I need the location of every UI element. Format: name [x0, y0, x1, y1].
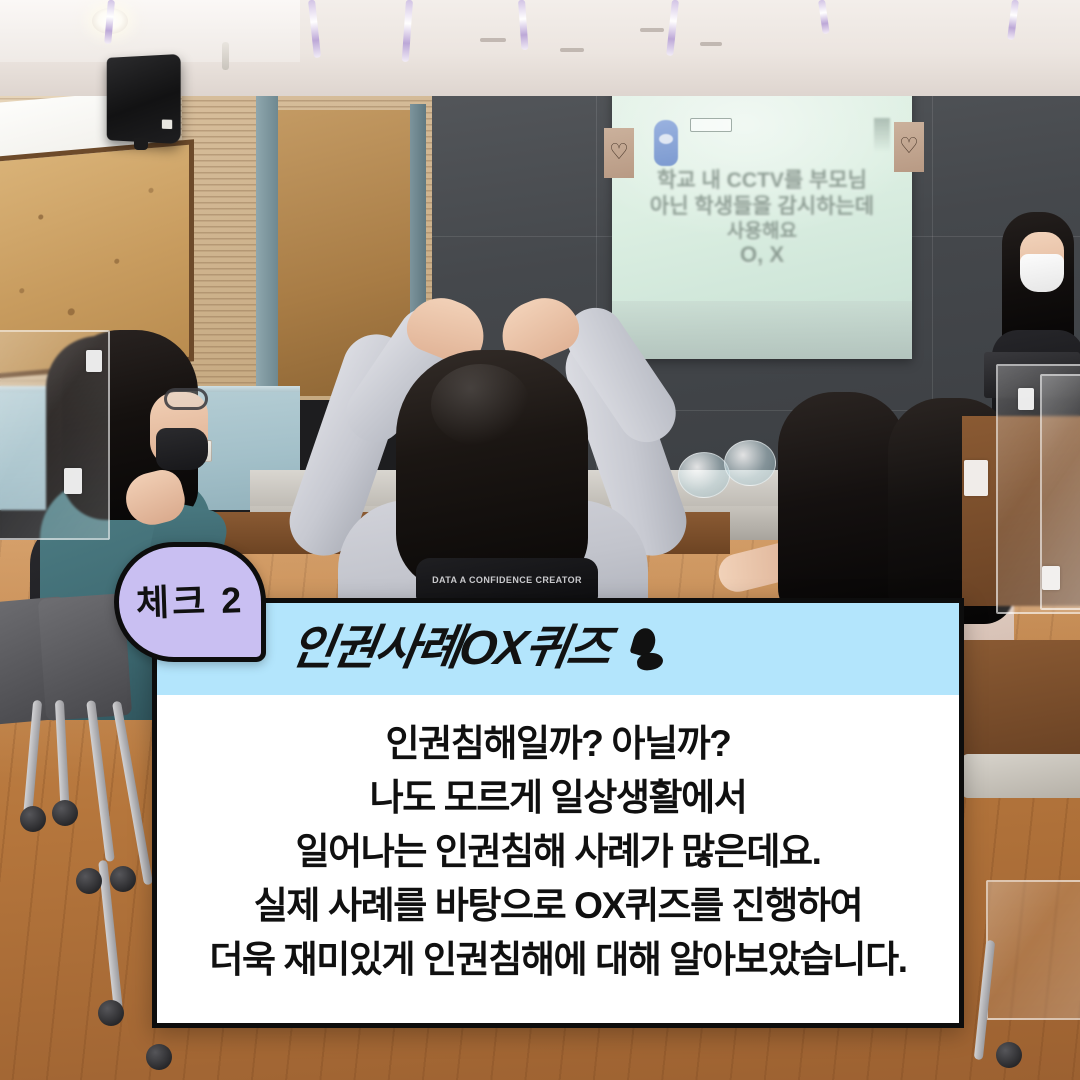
comma-sparkle-icon — [621, 626, 667, 672]
chair-caster — [20, 806, 46, 832]
balloon-decoration — [678, 452, 730, 498]
divider-hinge — [86, 350, 102, 372]
slide-text-line-4: O, X — [612, 242, 912, 268]
ceiling-vent — [640, 28, 664, 32]
heart-decoration-left: ♡ — [604, 128, 634, 178]
card-title: 인권사례OX퀴즈 — [287, 625, 613, 673]
check-badge: 체크 2 — [114, 542, 266, 662]
heart-decoration-right: ♡ — [894, 122, 924, 172]
cable-hook — [222, 42, 229, 70]
divider-hinge — [64, 468, 82, 494]
collar-text: DATA A CONFIDENCE CREATOR — [432, 575, 582, 585]
acrylic-divider-lower — [986, 880, 1080, 1020]
ceiling-vent — [700, 42, 722, 46]
card-header: 인권사례OX퀴즈 — [157, 603, 959, 695]
teacher-face-mask — [1020, 254, 1064, 292]
chair-caster — [76, 868, 102, 894]
screenshot-root: 학교 내 CCTV를 부모님 아닌 학생들을 감시하는데 사용해요 O, X ♡… — [0, 0, 1080, 1080]
student-d-hair — [778, 392, 906, 622]
student-a-glasses — [164, 388, 208, 410]
chair-caster — [996, 1042, 1022, 1068]
card-body: 인권침해일까? 아닐까? 나도 모르게 일상생활에서 일어나는 인권침해 사례가… — [157, 695, 959, 1002]
student-a-face-mask — [156, 428, 208, 470]
chair-caster — [110, 866, 136, 892]
divider-hinge — [964, 460, 988, 496]
projection-screen: 학교 내 CCTV를 부모님 아닌 학생들을 감시하는데 사용해요 O, X — [612, 84, 912, 359]
slide-text-line-3: 사용해요 — [612, 216, 912, 243]
slide-chip — [690, 118, 732, 132]
student-c-hair — [396, 350, 588, 590]
door-frame-column — [256, 96, 278, 396]
slide-mascot-icon — [654, 120, 678, 166]
info-card: 인권사례OX퀴즈 인권침해일까? 아닐까? 나도 모르게 일상생활에서 일어나는… — [152, 598, 964, 1028]
speaker-mount — [134, 138, 148, 150]
slide-doodle-icon — [874, 118, 890, 152]
body-line: 일어나는 인권침해 사례가 많은데요. — [295, 829, 820, 875]
body-line: 인권침해일까? 아닐까? — [385, 721, 730, 767]
heart-icon: ♡ — [899, 136, 919, 158]
balloon-decoration — [724, 440, 776, 486]
check-badge-label: 체크 2 — [135, 582, 244, 622]
body-line: 실제 사례를 바탕으로 OX퀴즈를 진행하여 — [254, 883, 862, 929]
student-c-collar: DATA A CONFIDENCE CREATOR — [416, 558, 598, 602]
chair-caster — [52, 800, 78, 826]
sparkle-drop-lower — [636, 652, 664, 672]
desk-items — [962, 754, 1080, 798]
wall-speaker — [107, 54, 181, 144]
heart-icon: ♡ — [609, 142, 629, 164]
screen-lower-band — [612, 301, 912, 359]
ceiling-soffit — [0, 0, 300, 62]
chair-caster — [98, 1000, 124, 1026]
divider-hinge — [1042, 566, 1060, 590]
divider-hinge — [1018, 388, 1034, 410]
ceiling-vent — [560, 48, 584, 52]
ceiling-vent — [480, 38, 506, 42]
body-line: 더욱 재미있게 인권침해에 대해 알아보았습니다. — [209, 937, 906, 983]
body-line: 나도 모르게 일상생활에서 — [370, 775, 747, 821]
desk-right — [960, 640, 1080, 760]
chair-caster — [146, 1044, 172, 1070]
